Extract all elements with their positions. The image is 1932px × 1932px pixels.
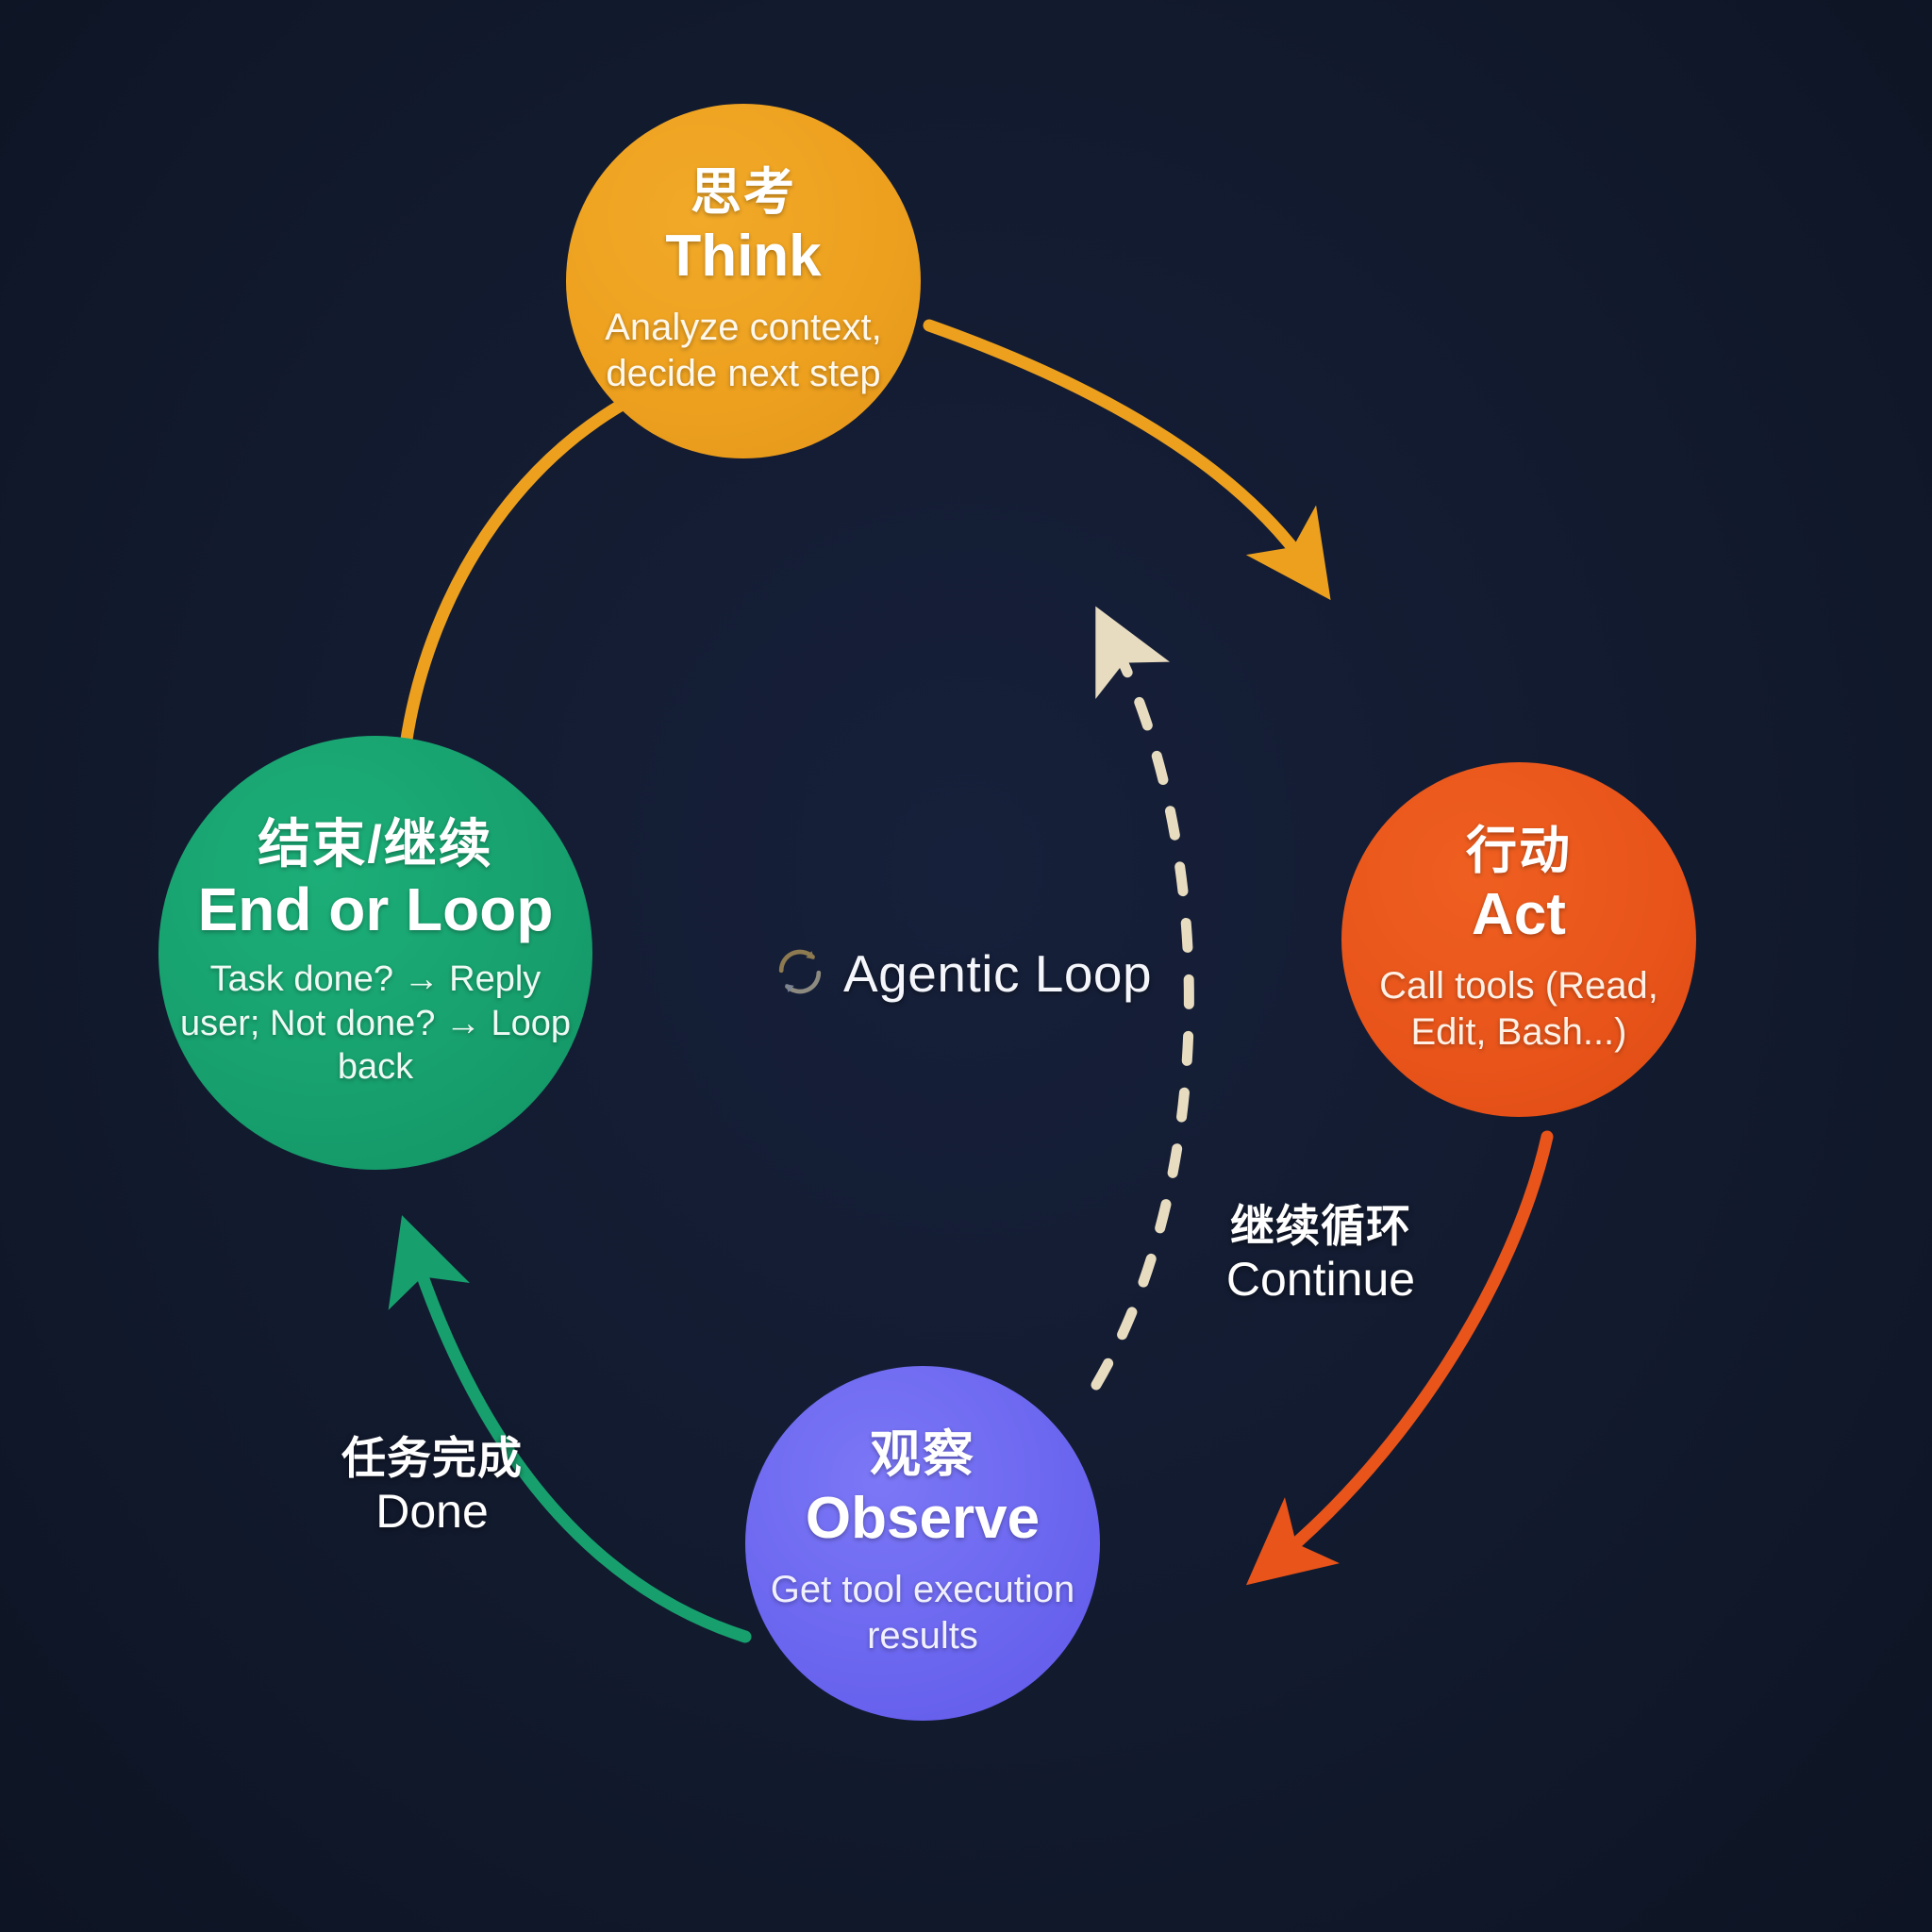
node-end-title-en: End or Loop xyxy=(198,875,554,945)
node-think[interactable]: 思考 Think Analyze context, decide next st… xyxy=(566,104,921,458)
edge-label-done: 任务完成 Done xyxy=(291,1432,574,1540)
cycle-refresh-icon xyxy=(774,945,826,1003)
node-end-or-loop[interactable]: 结束/继续 End or Loop Task done? → Reply use… xyxy=(158,736,592,1170)
diagram-canvas: 思考 Think Analyze context, decide next st… xyxy=(0,0,1932,1932)
node-think-description: Analyze context, decide next step xyxy=(566,305,921,397)
center-label: Agentic Loop xyxy=(774,943,1170,1004)
edge-label-done-en: Done xyxy=(291,1484,574,1540)
center-label-text: Agentic Loop xyxy=(843,943,1152,1004)
node-observe-title-en: Observe xyxy=(806,1485,1040,1552)
node-act[interactable]: 行动 Act Call tools (Read, Edit, Bash...) xyxy=(1341,762,1696,1117)
node-think-title-en: Think xyxy=(665,223,821,290)
edge-label-done-cn: 任务完成 xyxy=(291,1432,574,1484)
edge-label-continue-en: Continue xyxy=(1170,1252,1472,1307)
node-think-title-cn: 思考 xyxy=(691,165,796,220)
node-observe[interactable]: 观察 Observe Get tool execution results xyxy=(745,1366,1100,1721)
node-observe-description: Get tool execution results xyxy=(745,1567,1100,1659)
node-act-title-en: Act xyxy=(1472,881,1566,948)
node-act-description: Call tools (Read, Edit, Bash...) xyxy=(1341,963,1696,1056)
node-act-title-cn: 行动 xyxy=(1466,824,1572,878)
edge-end-to-think xyxy=(406,377,679,745)
edge-label-continue-cn: 继续循环 xyxy=(1170,1200,1472,1252)
node-end-title-cn: 结束/继续 xyxy=(258,816,493,873)
edge-label-continue: 继续循环 Continue xyxy=(1170,1200,1472,1307)
node-observe-title-cn: 观察 xyxy=(870,1427,975,1482)
edge-think-to-act xyxy=(929,325,1307,566)
node-end-description: Task done? → Reply user; Not done? → Loo… xyxy=(158,958,592,1089)
